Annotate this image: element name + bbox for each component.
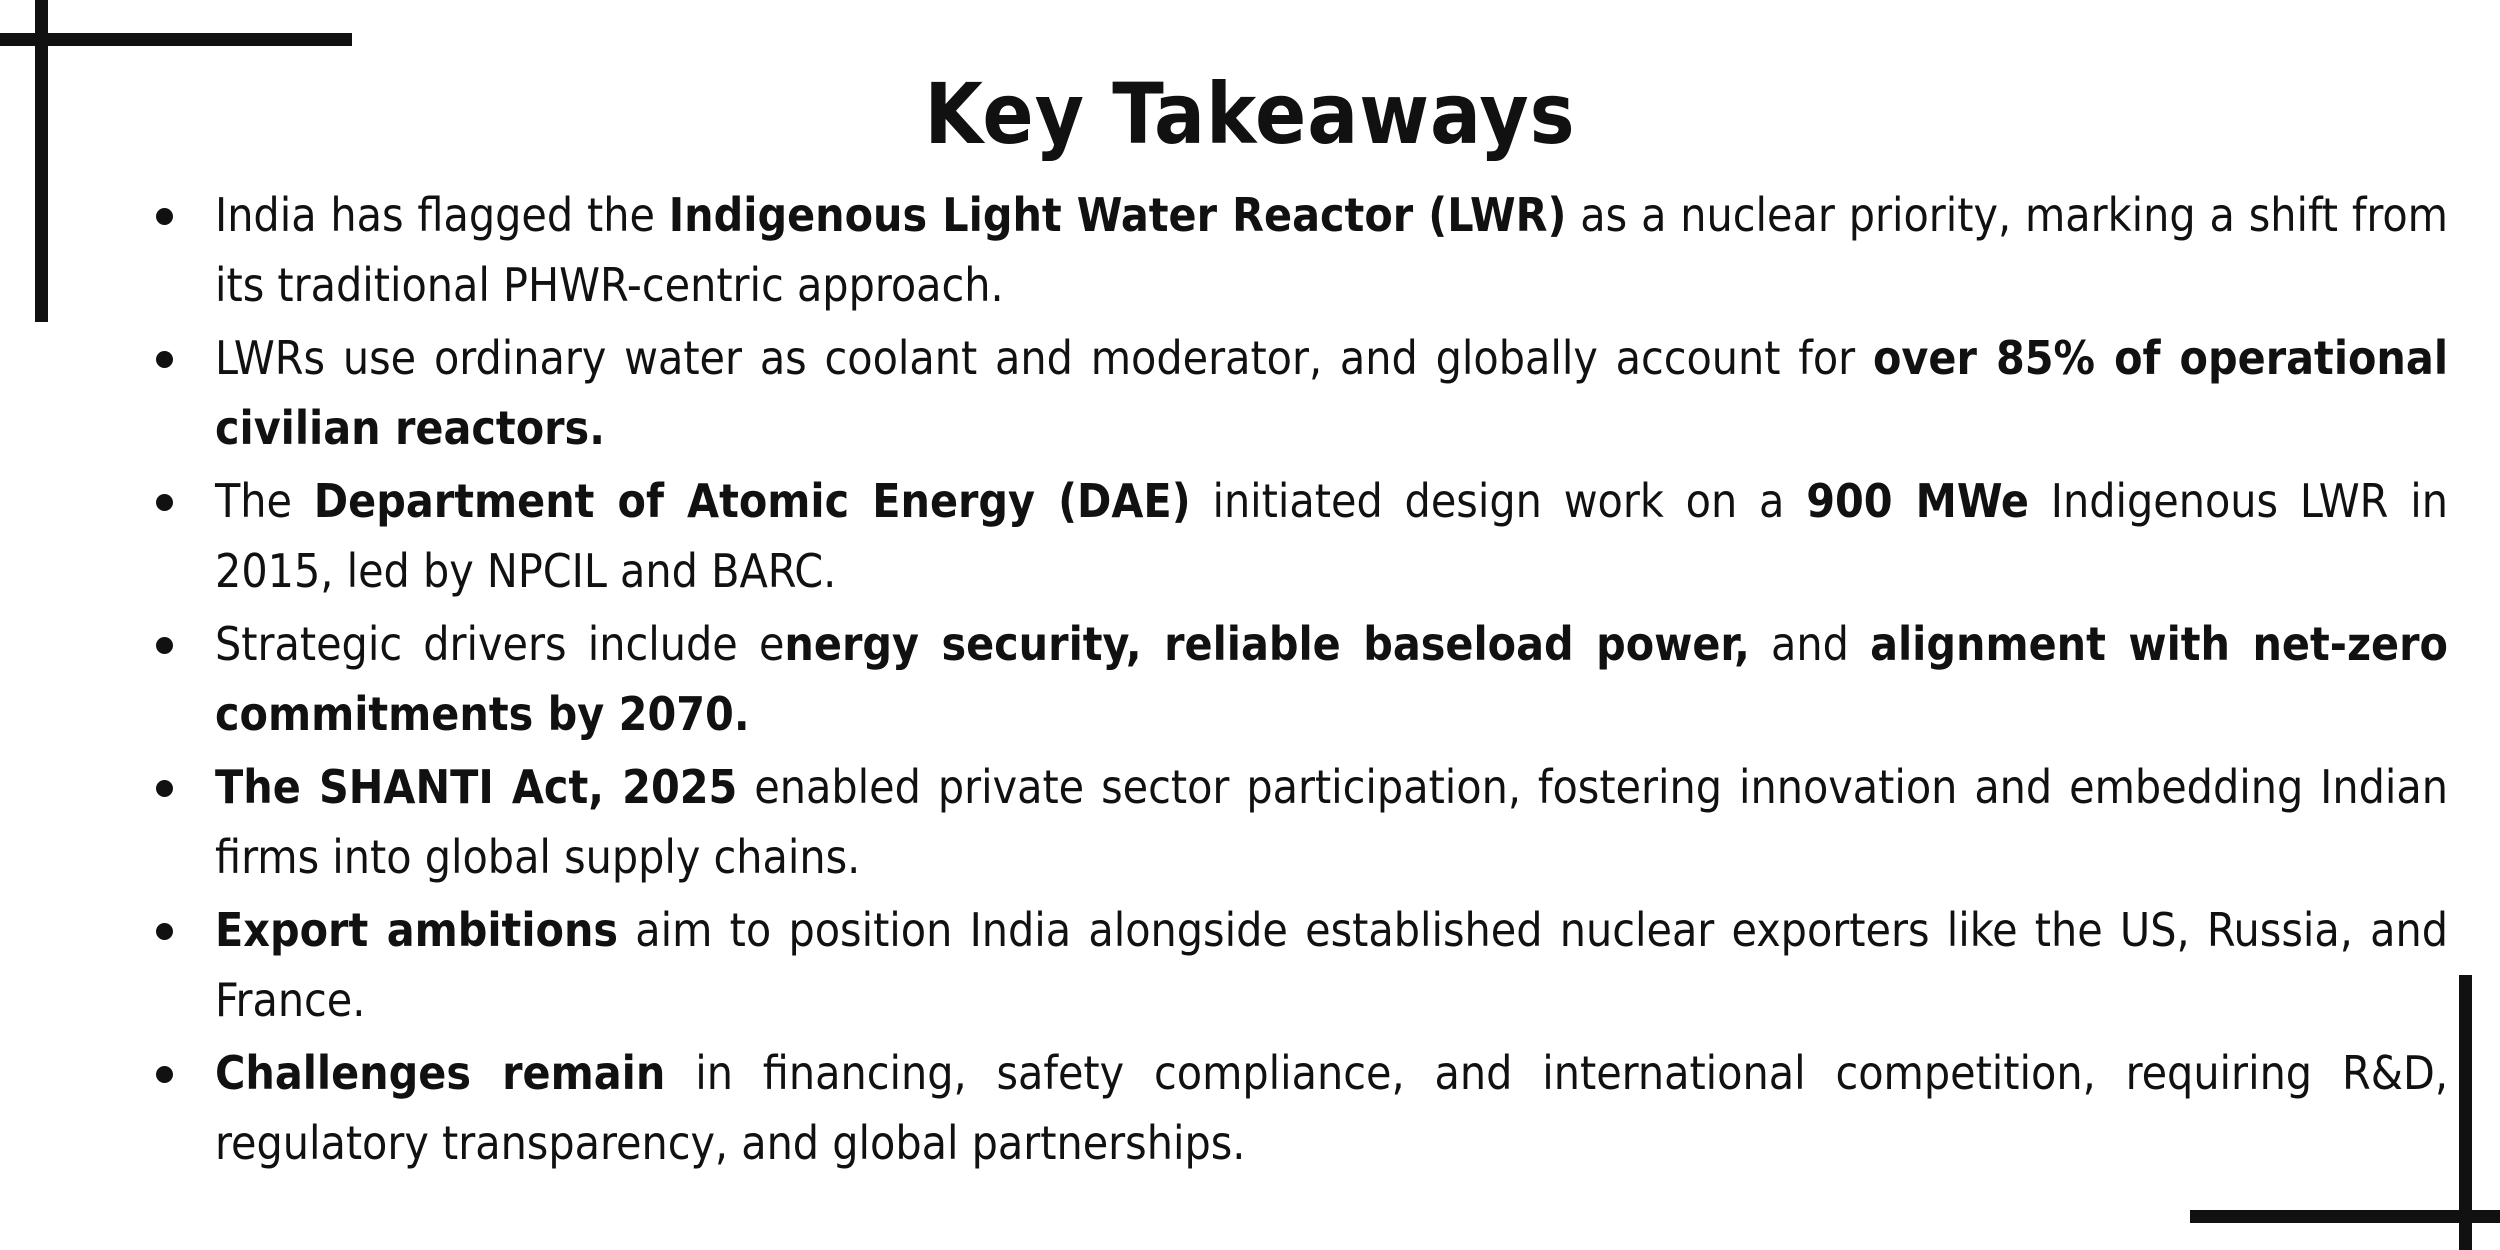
list-item: India has flagged the Indigenous Light W… bbox=[148, 180, 2448, 320]
corner-bracket-bottom-right-vertical bbox=[2459, 975, 2472, 1250]
page-title: Key Takeaways bbox=[0, 70, 2500, 158]
list-item-text: The Department of Atomic Energy (DAE) in… bbox=[215, 466, 2448, 606]
list-item: LWRs use ordinary water as coolant and m… bbox=[148, 323, 2448, 463]
takeaways-list: India has flagged the Indigenous Light W… bbox=[148, 180, 2448, 1181]
bullet-dot-icon bbox=[156, 780, 173, 797]
bullet-dot-icon bbox=[156, 494, 173, 511]
list-item: Challenges remain in financing, safety c… bbox=[148, 1038, 2448, 1178]
list-item-text: Strategic drivers include energy securit… bbox=[215, 609, 2448, 749]
list-item: The Department of Atomic Energy (DAE) in… bbox=[148, 466, 2448, 606]
list-item-text: Challenges remain in financing, safety c… bbox=[215, 1038, 2448, 1178]
bullet-dot-icon bbox=[156, 351, 173, 368]
list-item-text: India has flagged the Indigenous Light W… bbox=[215, 180, 2448, 320]
list-item: The SHANTI Act, 2025 enabled private sec… bbox=[148, 752, 2448, 892]
bullet-dot-icon bbox=[156, 923, 173, 940]
corner-bracket-top-left-horizontal bbox=[0, 33, 352, 46]
bullet-dot-icon bbox=[156, 208, 173, 225]
slide-canvas: Key Takeaways India has flagged the Indi… bbox=[0, 0, 2500, 1250]
list-item-text: LWRs use ordinary water as coolant and m… bbox=[215, 323, 2448, 463]
list-item-text: Export ambitions aim to position India a… bbox=[215, 895, 2448, 1035]
bullet-dot-icon bbox=[156, 1066, 173, 1083]
corner-bracket-top-left-vertical bbox=[35, 0, 48, 322]
list-item: Export ambitions aim to position India a… bbox=[148, 895, 2448, 1035]
bullet-dot-icon bbox=[156, 637, 173, 654]
corner-bracket-bottom-right-horizontal bbox=[2190, 1210, 2500, 1223]
list-item-text: The SHANTI Act, 2025 enabled private sec… bbox=[215, 752, 2448, 892]
list-item: Strategic drivers include energy securit… bbox=[148, 609, 2448, 749]
